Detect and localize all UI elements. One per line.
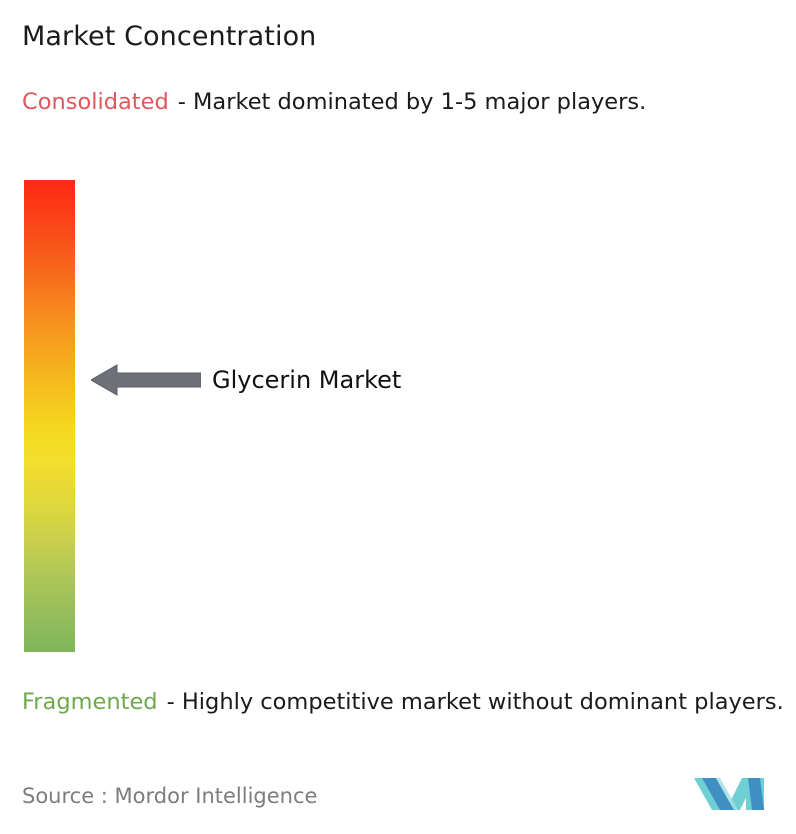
legend-fragmented: Fragmented- Highly competitive market wi… — [22, 686, 792, 719]
mordor-intelligence-logo — [692, 772, 768, 816]
chart-title: Market Concentration — [22, 20, 316, 54]
legend-consolidated-keyword: Consolidated — [22, 89, 169, 115]
legend-consolidated-description: - Market dominated by 1-5 major players. — [178, 89, 647, 115]
legend-fragmented-keyword: Fragmented — [22, 689, 158, 715]
source-attribution: Source : Mordor Intelligence — [22, 782, 317, 810]
annotation-label: Glycerin Market — [212, 365, 401, 395]
legend-fragmented-description: - Highly competitive market without domi… — [167, 689, 784, 715]
logo-icon — [692, 772, 768, 816]
concentration-gradient-bar — [24, 180, 75, 652]
market-concentration-chart: Market Concentration Consolidated- Marke… — [0, 0, 796, 834]
market-annotation: Glycerin Market — [91, 362, 571, 398]
legend-consolidated: Consolidated- Market dominated by 1-5 ma… — [22, 86, 782, 119]
left-arrow-icon — [91, 363, 201, 397]
